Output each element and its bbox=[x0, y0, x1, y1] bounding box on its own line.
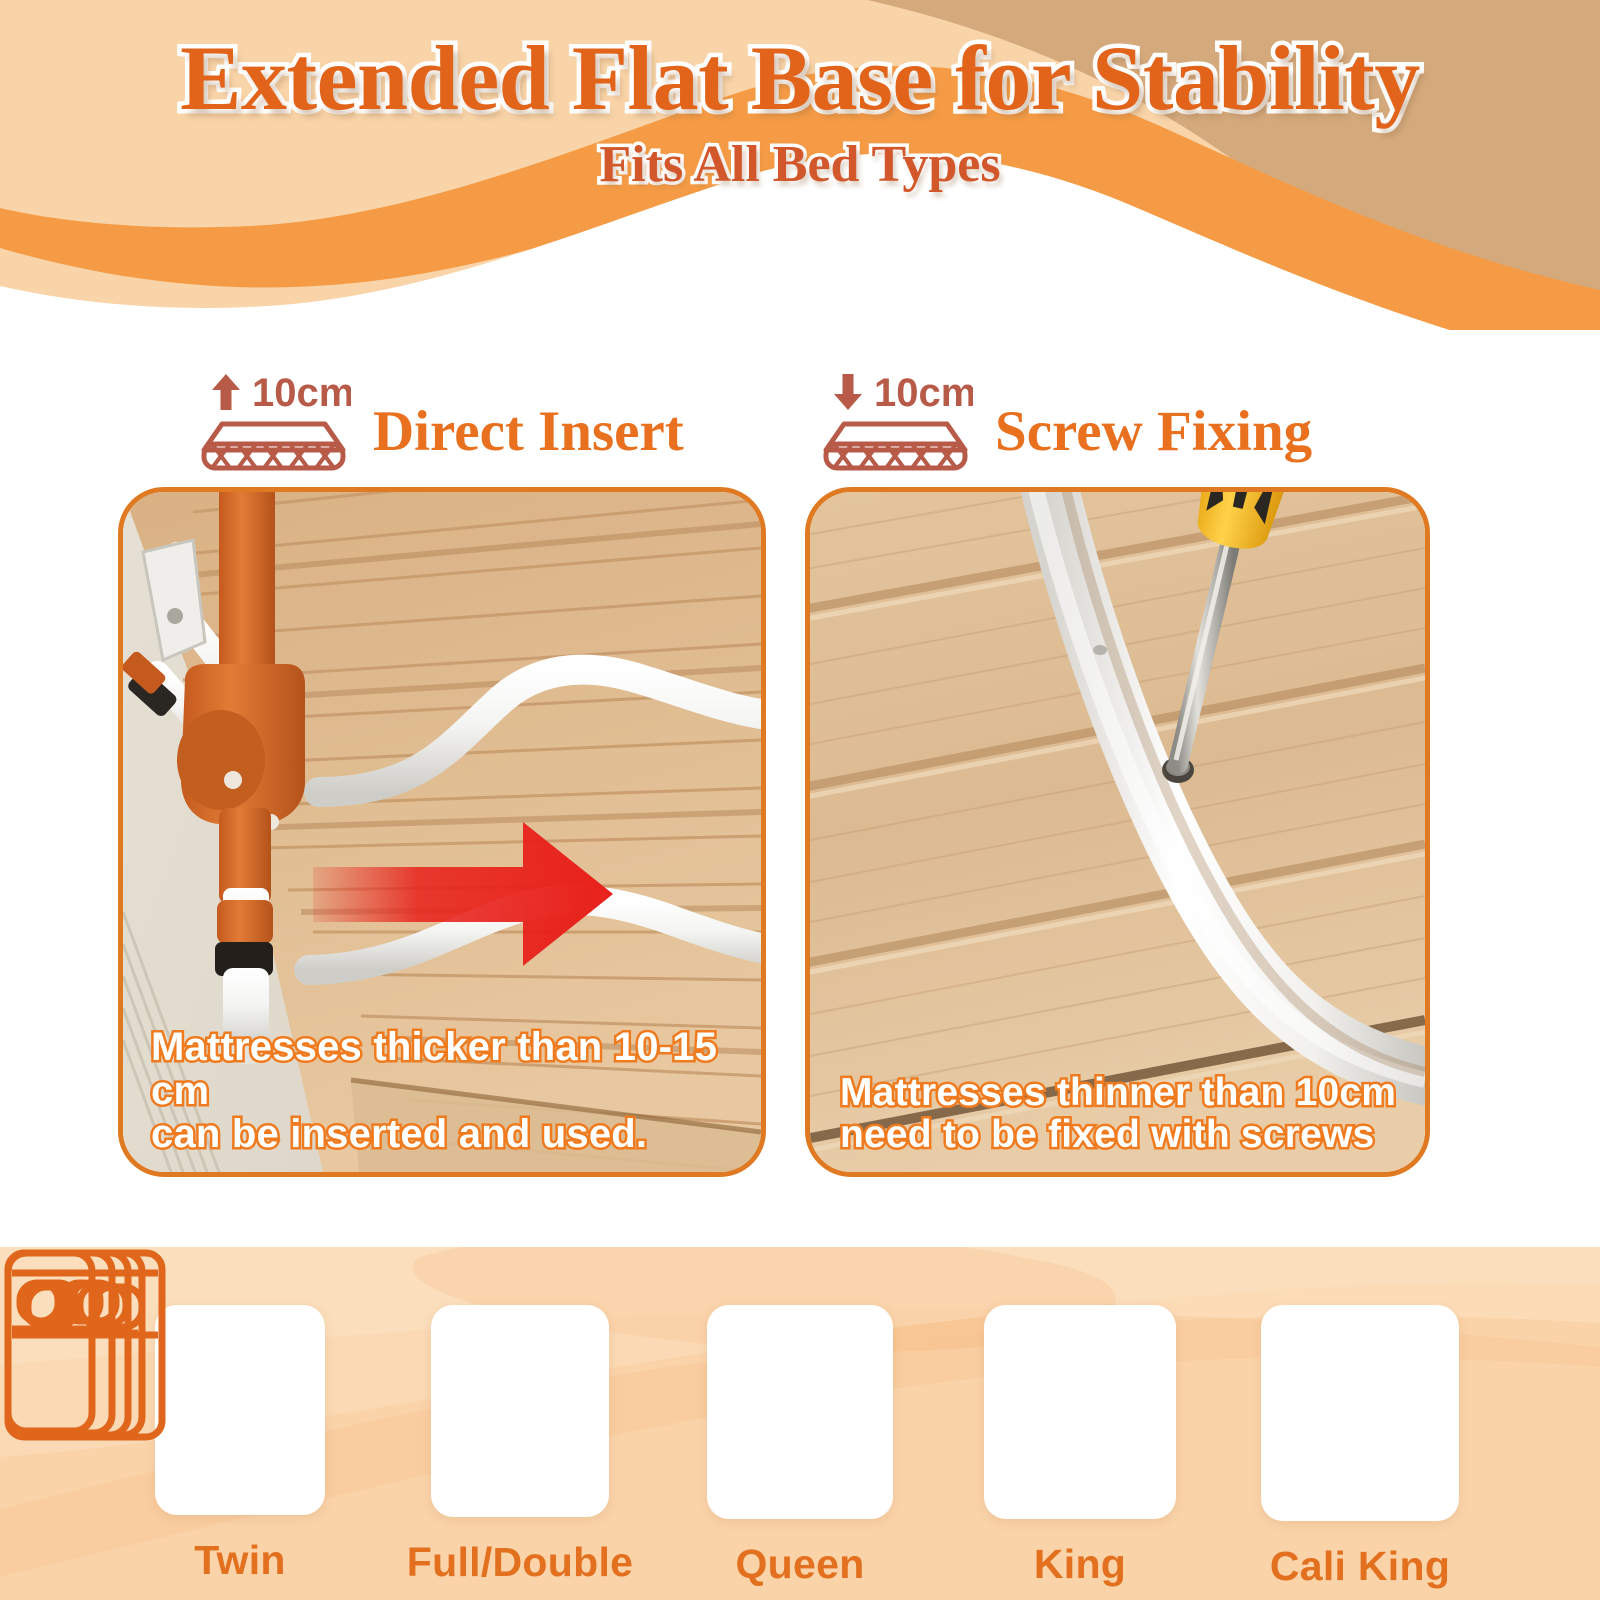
bed-size-item-full-double[interactable]: Full/Double bbox=[380, 1247, 660, 1586]
bed-size-item-king[interactable]: King bbox=[940, 1247, 1220, 1588]
svg-text:10cm: 10cm bbox=[874, 371, 973, 415]
photo-panel-direct-insert: Mattresses thicker than 10-15 cm can be … bbox=[118, 487, 766, 1177]
method-label-text-right: Screw Fixing bbox=[995, 403, 1312, 460]
panel-caption-right: Mattresses thinner than 10cm need to be … bbox=[810, 1072, 1425, 1156]
bed-size-item-queen[interactable]: Queen bbox=[660, 1247, 940, 1588]
bed-size-list: Twin Full/Double bbox=[0, 1247, 1600, 1600]
caption-line-1: Mattresses thicker than 10-15 cm bbox=[151, 1026, 743, 1112]
svg-text:10cm: 10cm bbox=[252, 371, 351, 415]
mattress-side-icon bbox=[826, 424, 965, 468]
method-label-screw-fixing: 10cm Screw Fixing bbox=[818, 352, 1312, 472]
infographic-root: Extended Flat Base for Stability Fits Al… bbox=[0, 0, 1600, 1600]
bed-size-card-twin[interactable] bbox=[155, 1305, 325, 1515]
caption-line-1: Mattresses thinner than 10cm bbox=[840, 1072, 1407, 1114]
mattress-thickness-indicator-down: 10cm bbox=[818, 352, 973, 472]
header-banner: Extended Flat Base for Stability Fits Al… bbox=[0, 0, 1600, 330]
bed-icon-cali-king bbox=[0, 1247, 170, 1443]
bed-size-card-king[interactable] bbox=[984, 1305, 1176, 1519]
bed-size-card-full-double[interactable] bbox=[431, 1305, 609, 1517]
bed-size-label-queen: Queen bbox=[735, 1541, 864, 1588]
photo-panel-screw-fixing: Mattresses thinner than 10cm need to be … bbox=[805, 487, 1430, 1177]
bed-size-label-full-double: Full/Double bbox=[407, 1539, 634, 1586]
arrow-down-icon bbox=[834, 374, 862, 410]
bed-size-item-cali-king[interactable]: Cali King bbox=[1220, 1247, 1500, 1590]
photo-bed-rail-screw-fixing bbox=[810, 492, 1425, 1172]
bed-size-card-cali-king[interactable] bbox=[1261, 1305, 1459, 1521]
page-subtitle: Fits All Bed Types bbox=[0, 135, 1600, 194]
mattress-thickness-indicator-up: 10cm bbox=[196, 352, 351, 472]
bed-size-card-queen[interactable] bbox=[707, 1305, 893, 1519]
bed-sizes-band: Twin Full/Double bbox=[0, 1247, 1600, 1600]
header-title-block: Extended Flat Base for Stability Fits Al… bbox=[0, 0, 1600, 194]
caption-line-2: need to be fixed with screws bbox=[840, 1114, 1407, 1156]
mattress-side-icon bbox=[204, 424, 343, 468]
panel-caption-left: Mattresses thicker than 10-15 cm can be … bbox=[123, 1026, 761, 1156]
bed-size-label-king: King bbox=[1034, 1541, 1126, 1588]
method-label-text-left: Direct Insert bbox=[373, 403, 684, 460]
page-title: Extended Flat Base for Stability bbox=[0, 30, 1600, 127]
arrow-up-icon bbox=[212, 374, 240, 410]
method-label-row: 10cm Direct Insert 10cm bbox=[0, 352, 1600, 480]
caption-line-2: can be inserted and used. bbox=[151, 1113, 743, 1156]
bed-size-label-cali-king: Cali King bbox=[1270, 1543, 1450, 1590]
method-label-direct-insert: 10cm Direct Insert bbox=[196, 352, 684, 472]
bed-size-label-twin: Twin bbox=[194, 1537, 286, 1584]
